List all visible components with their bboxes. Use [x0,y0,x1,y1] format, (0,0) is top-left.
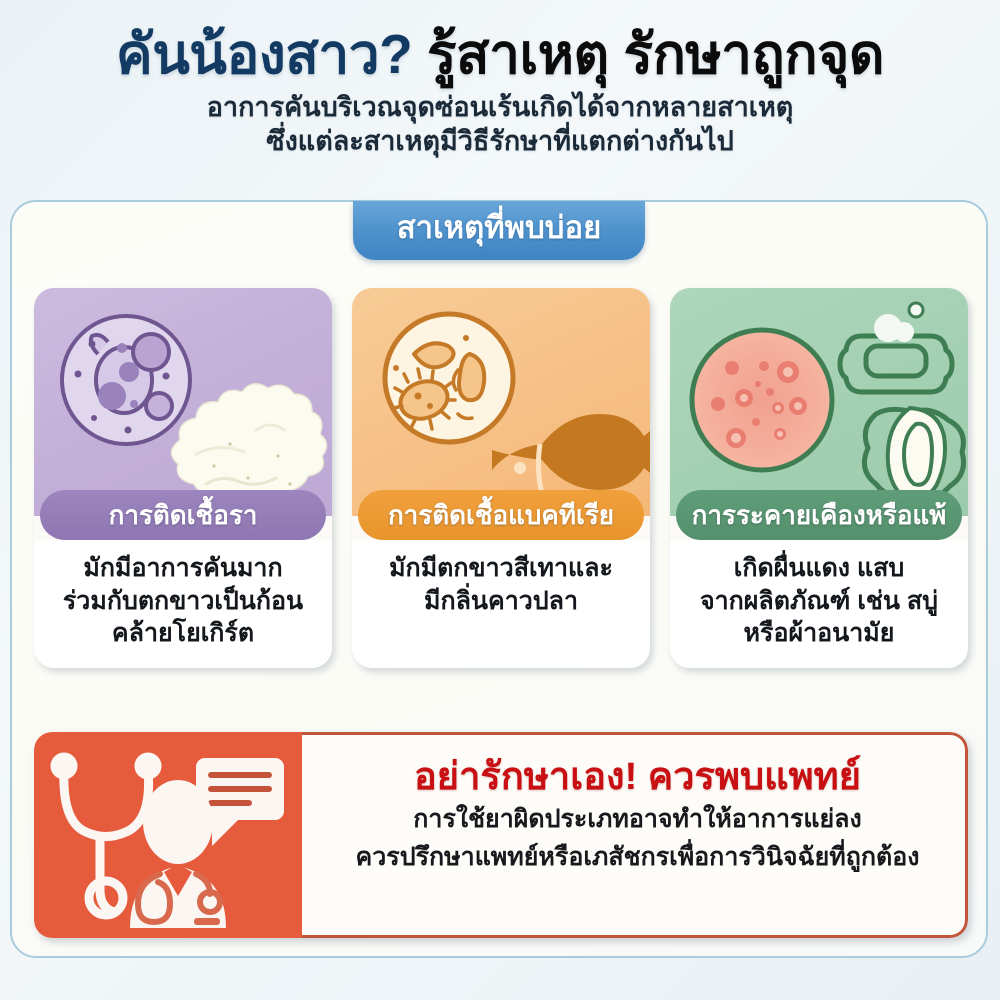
cause-card-bacterial-body-line-1: มักมีตกขาวสีเทาและ [362,552,640,585]
fish-icon [492,414,650,494]
cause-card-irritation-title: การระคายเคืองหรือแพ้ [676,490,962,540]
cause-card-fungal-body-line-2: ร่วมกับตกขาวเป็นก้อน [44,585,322,618]
cause-card-irritation-body-line-2: จากผลิตภัณฑ์ เช่น สบู่ [680,585,958,618]
cause-card-fungal-body-line-1: มักมีอาการคันมาก [44,552,322,585]
warning-line-1: การใช้ยาผิดประเภทอาจทำให้อาการแย่ลง [328,803,947,837]
warning-icon-panel [34,732,302,938]
cause-card-irritation-body: เกิดผื่นแดง แสบ จากผลิตภัณฑ์ เช่น สบู่ ห… [670,540,968,668]
bacteria-petri-icon [352,288,650,516]
cause-card-irritation[interactable]: การระคายเคืองหรือแพ้ เกิดผื่นแดง แสบ จาก… [670,288,968,668]
cause-card-fungal-title: การติดเชื้อรา [40,490,326,540]
warning-line-2: ควรปรึกษาแพทย์หรือเภสัชกรเพื่อการวินิจฉั… [328,841,947,875]
yeast-cell-petri-icon [34,288,332,516]
cause-card-row: การติดเชื้อรา มักมีอาการคันมาก ร่วมกับตก… [34,288,968,668]
page-subtitle-line-1: อาการคันบริเวณจุดซ่อนเร้นเกิดได้จากหลายส… [0,90,1000,125]
cause-card-fungal-body: มักมีอาการคันมาก ร่วมกับตกขาวเป็นก้อน คล… [34,540,332,668]
page-title: คันน้องสาว? รู้สาเหตุ รักษาถูกจุด [0,26,1000,84]
sanitary-pad-icon [864,408,963,499]
cause-card-bacterial-title: การติดเชื้อแบคทีเรีย [358,490,644,540]
cause-card-irritation-art [670,288,968,516]
cause-card-fungal-art [34,288,332,516]
page-title-part-a: คันน้องสาว? [116,23,427,85]
cause-card-irritation-body-line-1: เกิดผื่นแดง แสบ [680,552,958,585]
header: คันน้องสาว? รู้สาเหตุ รักษาถูกจุด อาการค… [0,0,1000,159]
page-title-part-b: รู้สาเหตุ รักษาถูกจุด [427,23,884,85]
common-causes-ribbon: สาเหตุที่พบบ่อย [353,201,646,260]
ribbon-container: สาเหตุที่พบบ่อย [12,201,986,260]
warning-text-panel: อย่ารักษาเอง! ควรพบแพทย์ การใช้ยาผิดประเ… [302,732,968,938]
cause-card-fungal-body-line-3: คล้ายโยเกิร์ต [44,617,322,650]
skin-rash-icon [670,288,968,516]
page-subtitle: อาการคันบริเวณจุดซ่อนเร้นเกิดได้จากหลายส… [0,90,1000,159]
yogurt-cream-icon [171,384,326,498]
cause-card-bacterial-body: มักมีตกขาวสีเทาและ มีกลิ่นคาวปลา [352,540,650,668]
main-panel: สาเหตุที่พบบ่อย [10,200,988,958]
soap-bar-icon [840,336,952,392]
doctor-consult-icon [34,732,302,938]
cause-card-bacterial-art [352,288,650,516]
cause-card-irritation-body-line-3: หรือผ้าอนามัย [680,617,958,650]
warning-headline: อย่ารักษาเอง! ควรพบแพทย์ [328,757,947,799]
cause-card-bacterial-body-line-2: มีกลิ่นคาวปลา [362,585,640,618]
cause-card-fungal[interactable]: การติดเชื้อรา มักมีอาการคันมาก ร่วมกับตก… [34,288,332,668]
warning-banner: อย่ารักษาเอง! ควรพบแพทย์ การใช้ยาผิดประเ… [34,732,968,938]
page-subtitle-line-2: ซึ่งแต่ละสาเหตุมีวิธีรักษาที่แตกต่างกันไ… [0,124,1000,159]
cause-card-bacterial[interactable]: การติดเชื้อแบคทีเรีย มักมีตกขาวสีเทาและ … [352,288,650,668]
